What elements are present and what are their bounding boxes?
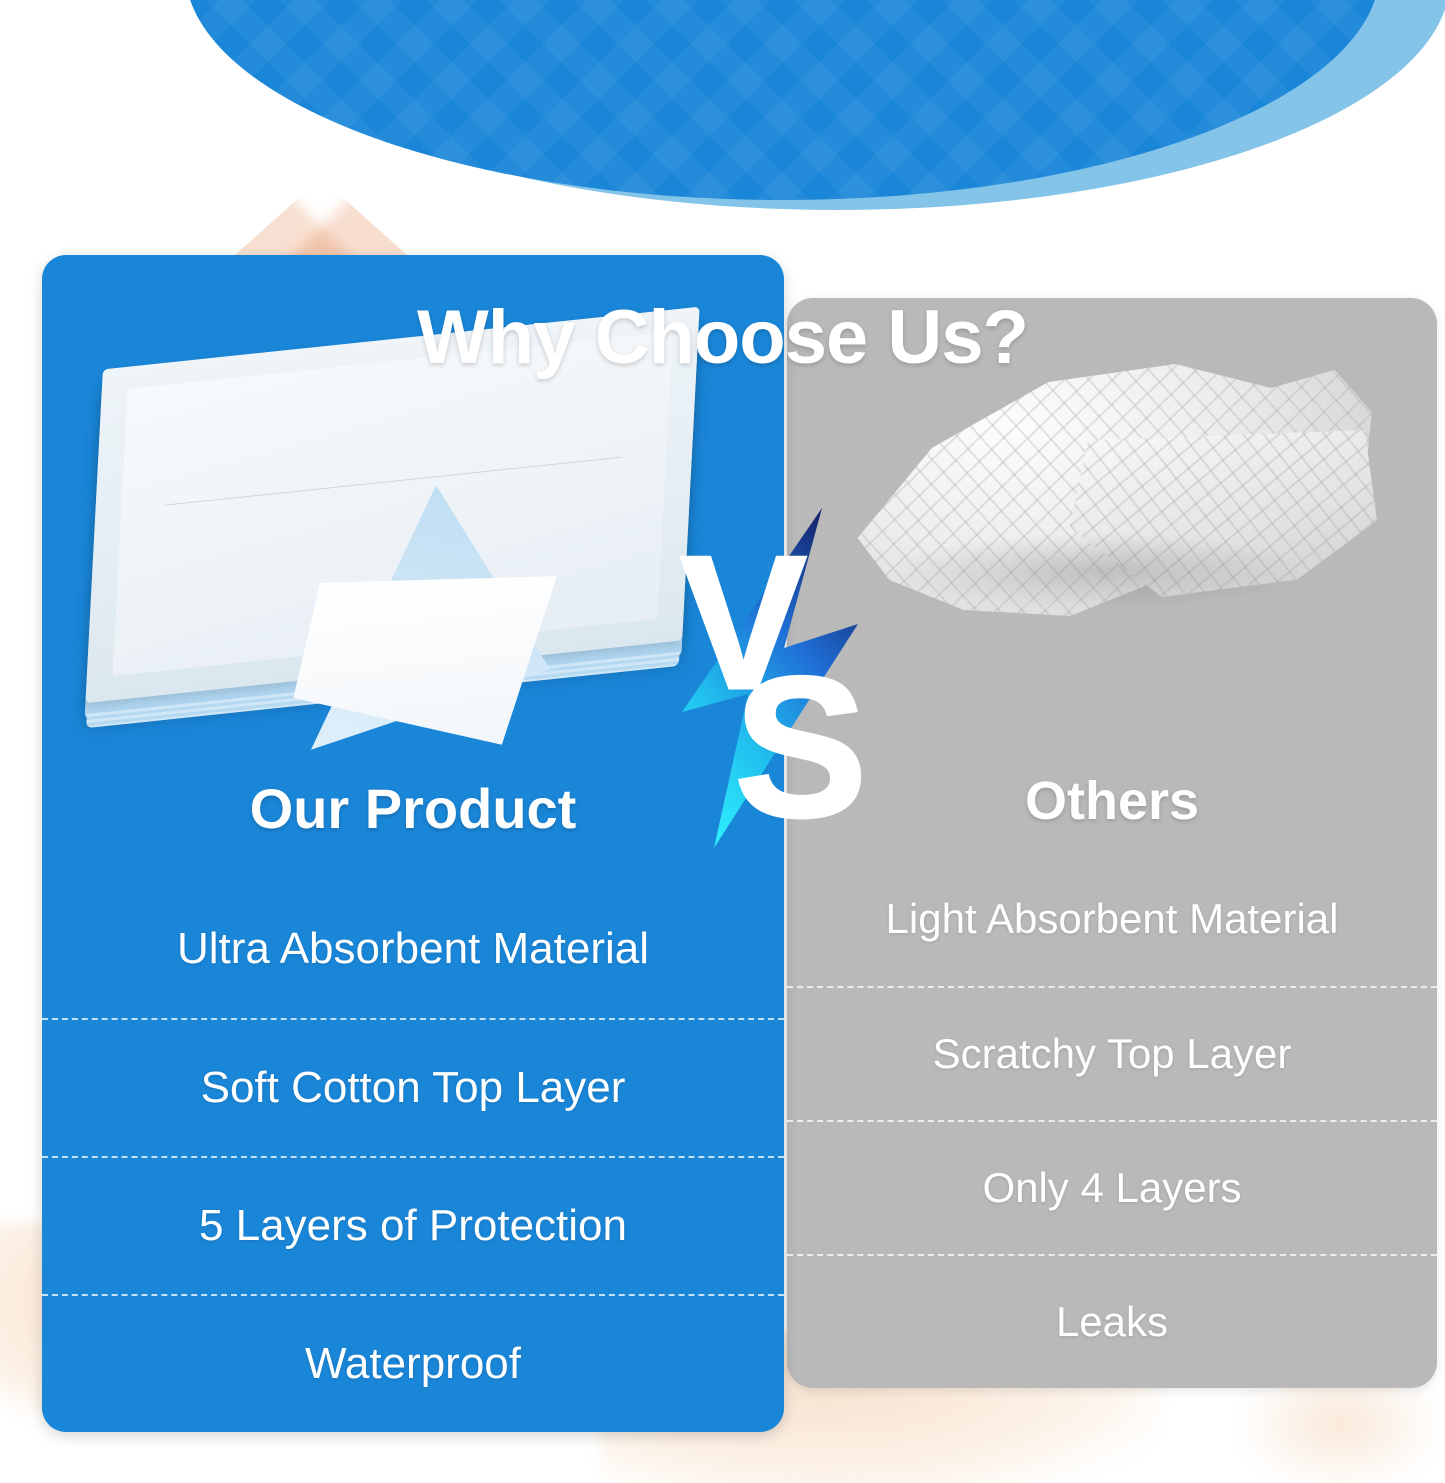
feature-label: Light Absorbent Material [886, 896, 1339, 942]
feature-row: Leaks [787, 1254, 1437, 1388]
feature-row: Soft Cotton Top Layer [42, 1018, 784, 1156]
header-banner [0, 0, 1445, 270]
feature-label: Only 4 Layers [982, 1165, 1241, 1211]
feature-row: 5 Layers of Protection [42, 1156, 784, 1294]
others-feature-list: Light Absorbent Material Scratchy Top La… [787, 852, 1437, 1388]
versus-letter-s: S [734, 636, 867, 858]
feature-label: 5 Layers of Protection [199, 1202, 627, 1250]
banner-main-ellipse [185, 0, 1380, 200]
feature-row: Scratchy Top Layer [787, 986, 1437, 1120]
feature-label: Scratchy Top Layer [933, 1031, 1292, 1077]
versus-badge-svg: V S [672, 498, 892, 858]
page-title: Why Choose Us? [0, 294, 1445, 381]
feature-label: Waterproof [305, 1340, 521, 1388]
feature-label: Soft Cotton Top Layer [201, 1064, 626, 1112]
feature-label: Leaks [1056, 1299, 1168, 1345]
feature-row: Waterproof [42, 1294, 784, 1432]
crumpled-pad-shadow [889, 532, 1313, 610]
background-pad-photo-bottom-right [1240, 1380, 1440, 1483]
our-product-feature-list: Ultra Absorbent Material Soft Cotton Top… [42, 880, 784, 1432]
feature-row: Only 4 Layers [787, 1120, 1437, 1254]
feature-row: Light Absorbent Material [787, 852, 1437, 986]
feature-row: Ultra Absorbent Material [42, 880, 784, 1018]
comparison-infographic: Why Choose Us? [0, 0, 1445, 1483]
feature-label: Ultra Absorbent Material [177, 925, 649, 973]
others-product-image [847, 346, 1377, 646]
versus-badge: V S [672, 498, 892, 858]
